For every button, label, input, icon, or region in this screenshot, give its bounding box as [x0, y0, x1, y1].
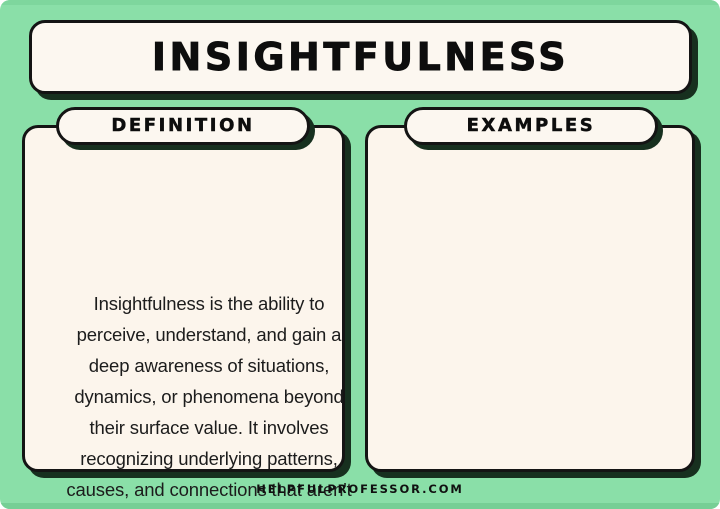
examples-card: Reading Human Behavior: You have the abi…: [365, 125, 695, 472]
definition-body-text: Insightfulness is the ability to perceiv…: [61, 288, 357, 509]
definition-heading-pill: DEFINITION: [56, 107, 310, 145]
content-columns: Insightfulness is the ability to perceiv…: [0, 0, 720, 509]
infographic-poster: INSIGHTFULNESS Insightfulness is the abi…: [0, 0, 720, 509]
definition-card: Insightfulness is the ability to perceiv…: [22, 125, 345, 472]
examples-heading: EXAMPLES: [467, 117, 596, 135]
examples-heading-pill: EXAMPLES: [404, 107, 658, 145]
source-attribution: HELPFULPROFESSOR.COM: [256, 482, 463, 496]
footer: HELPFULPROFESSOR.COM: [0, 480, 720, 498]
definition-heading: DEFINITION: [111, 117, 254, 135]
